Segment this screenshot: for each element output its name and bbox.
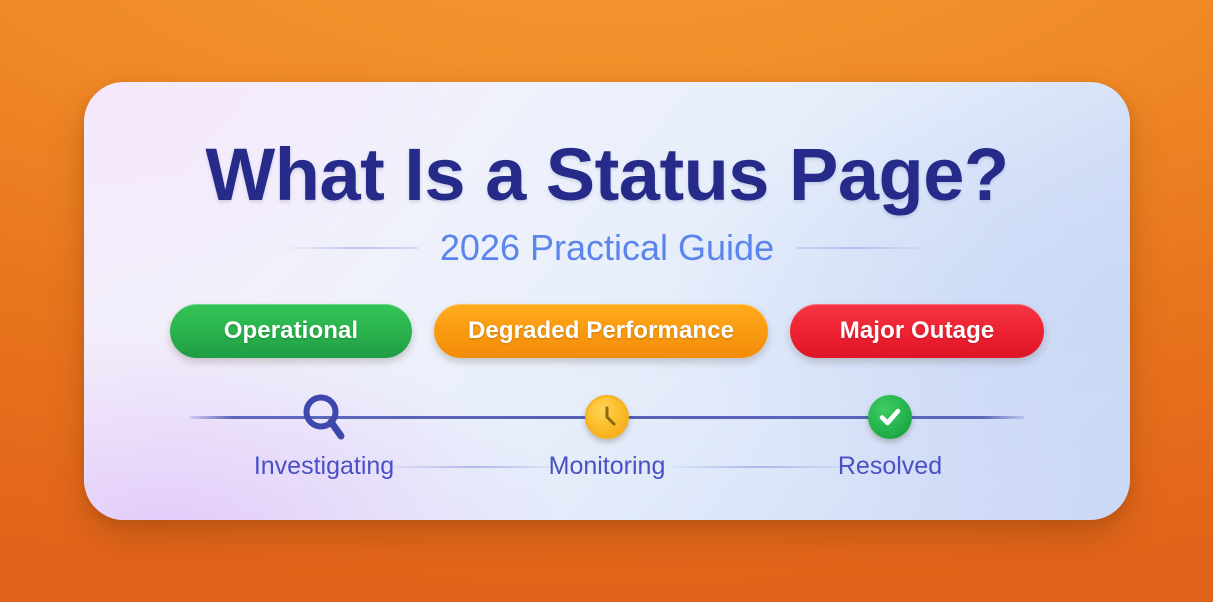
clock-icon-face [585, 395, 629, 439]
status-badge-outage-label: Major Outage [840, 317, 995, 345]
magnifier-icon [300, 388, 348, 446]
page-title: What Is a Status Page? [84, 138, 1130, 212]
timeline-step-investigating[interactable]: Investigating [234, 388, 414, 479]
subtitle-rule-right [796, 247, 932, 249]
check-circle-icon-face [868, 395, 912, 439]
timeline-step-resolved[interactable]: Resolved [800, 388, 980, 479]
timeline-steps: Investigating Monitoring [190, 388, 1024, 479]
status-page-card: What Is a Status Page? 2026 Practical Gu… [84, 82, 1130, 520]
incident-timeline: Investigating Monitoring [190, 388, 1024, 498]
check-circle-icon [868, 388, 912, 446]
timeline-step-resolved-label: Resolved [838, 454, 942, 479]
clock-icon [585, 388, 629, 446]
status-badge-operational-label: Operational [224, 317, 358, 345]
page-subtitle: 2026 Practical Guide [440, 230, 774, 266]
timeline-step-monitoring-label: Monitoring [549, 454, 666, 479]
timeline-step-investigating-label: Investigating [254, 454, 394, 479]
subtitle-row: 2026 Practical Guide [84, 230, 1130, 266]
status-badge-outage[interactable]: Major Outage [790, 304, 1044, 358]
status-badge-degraded[interactable]: Degraded Performance [434, 304, 768, 358]
status-badge-group: Operational Degraded Performance Major O… [84, 304, 1130, 358]
timeline-step-monitoring[interactable]: Monitoring [517, 388, 697, 479]
subtitle-rule-left [282, 247, 418, 249]
status-badge-degraded-label: Degraded Performance [468, 317, 734, 345]
status-badge-operational[interactable]: Operational [170, 304, 412, 358]
card-content: What Is a Status Page? 2026 Practical Gu… [84, 82, 1130, 520]
